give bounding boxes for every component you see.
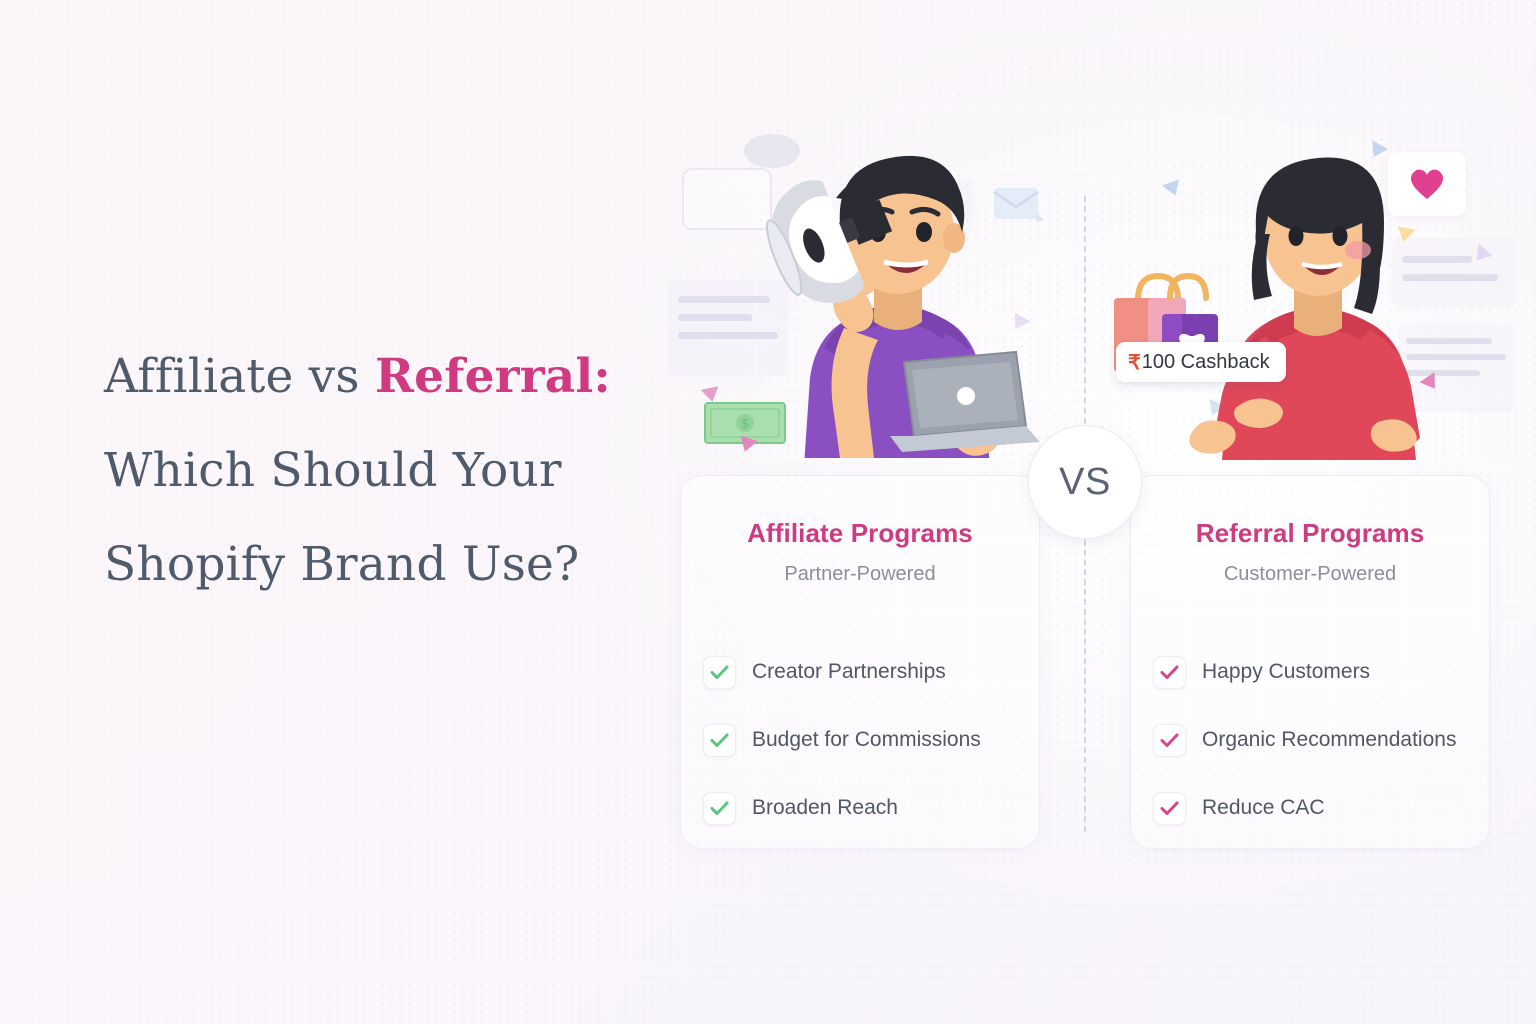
affiliate-card-title: Affiliate Programs [681,518,1039,549]
feature-label: Organic Recommendations [1202,728,1456,752]
page-title: Affiliate vs Referral: Which Should Your… [104,330,644,612]
title-line-1: Affiliate vs Referral: [104,330,644,424]
referral-programs-card[interactable]: Referral Programs Customer-Powered Happy… [1130,475,1490,849]
cashback-amount-label: 100 Cashback [1142,351,1270,374]
affiliate-card-subtitle: Partner-Powered [681,563,1039,586]
check-icon [1153,656,1186,689]
referral-card-title: Referral Programs [1131,518,1489,549]
versus-label: VS [1059,461,1111,504]
check-icon [1153,792,1186,825]
list-item: Organic Recommendations [1153,706,1489,774]
confetti-triangle [1162,179,1184,198]
feature-label: Happy Customers [1202,660,1370,684]
megaphone-person-figure [732,128,1062,458]
referral-feature-list: Happy Customers Organic Recommendations … [1131,638,1489,842]
versus-badge: VS [1028,425,1142,539]
check-icon [703,656,736,689]
affiliate-feature-list: Creator Partnerships Budget for Commissi… [681,638,1039,842]
comparison-panel: $ [660,120,1510,880]
list-item: Happy Customers [1153,638,1489,706]
title-line-1-accent: Referral: [375,349,611,404]
list-item: Reduce CAC [1153,774,1489,842]
title-line-1-prefix: Affiliate vs [104,349,375,404]
list-item: Broaden Reach [703,774,1039,842]
list-item: Budget for Commissions [703,706,1039,774]
divider-line-bottom [1084,520,1086,832]
feature-label: Reduce CAC [1202,796,1325,820]
check-icon [1153,724,1186,757]
cashback-badge: ₹100 Cashback [1116,342,1286,382]
affiliate-programs-card[interactable]: Affiliate Programs Partner-Powered Creat… [680,475,1040,849]
feature-label: Broaden Reach [752,796,898,820]
affiliate-illustration: $ [660,120,1070,520]
referral-card-subtitle: Customer-Powered [1131,563,1489,586]
feature-label: Creator Partnerships [752,660,946,684]
check-icon [703,724,736,757]
list-item: Creator Partnerships [703,638,1039,706]
feature-label: Budget for Commissions [752,728,981,752]
referral-illustration: ₹100 Cashback [1100,120,1510,520]
rupee-symbol-icon: ₹ [1128,350,1141,375]
title-line-2: Which Should Your [104,424,644,518]
title-line-3: Shopify Brand Use? [104,518,644,612]
check-icon [703,792,736,825]
